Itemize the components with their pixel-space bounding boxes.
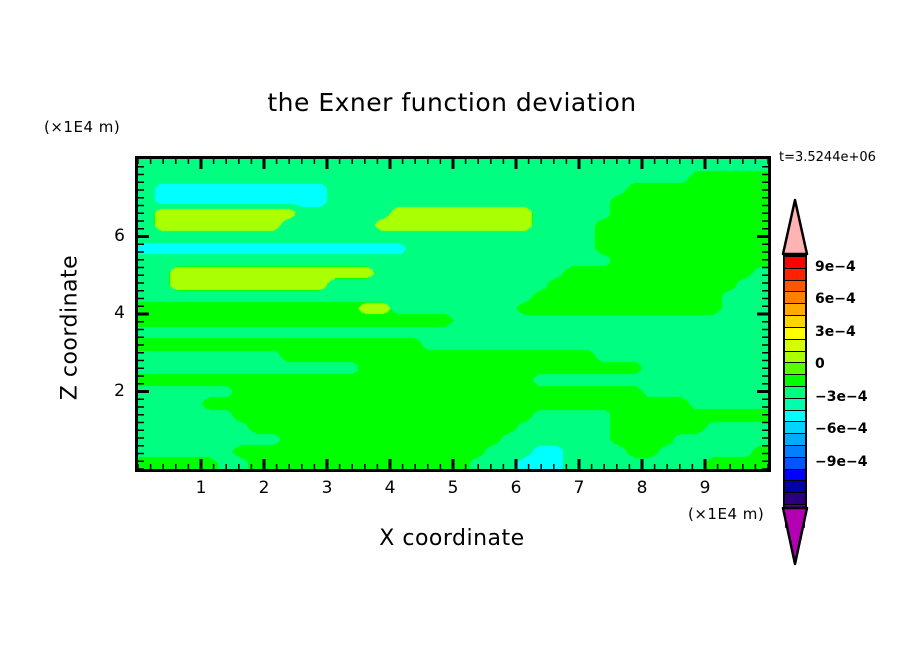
- colorbar-segment: [785, 422, 805, 434]
- colorbar-segment: [785, 363, 805, 375]
- colorbar-segment: [785, 434, 805, 446]
- colorbar-under-arrow-icon: [781, 506, 809, 566]
- colorbar-segments: [783, 255, 807, 508]
- colorbar-segment: [785, 281, 805, 293]
- figure-root: the Exner function deviation (×1E4 m) (×…: [0, 0, 904, 654]
- x-tick-label: 7: [564, 478, 594, 498]
- colorbar-tick-label: 3e−4: [815, 324, 856, 340]
- colorbar-segment: [785, 340, 805, 352]
- colorbar-segment: [785, 458, 805, 470]
- colorbar-segment: [785, 493, 805, 505]
- time-annotation: t=3.5244e+06: [779, 150, 876, 165]
- colorbar-segment: [785, 470, 805, 482]
- colorbar-segment: [785, 328, 805, 340]
- x-tick-label: 6: [501, 478, 531, 498]
- colorbar-tick-label: 9e−4: [815, 259, 856, 275]
- colorbar-segment: [785, 269, 805, 281]
- axis-tick-layer: [135, 156, 771, 476]
- x-tick-label: 1: [186, 478, 216, 498]
- colorbar-tick-label: −6e−4: [815, 421, 867, 437]
- colorbar-segment: [785, 316, 805, 328]
- x-axis-unit-label: (×1E4 m): [688, 505, 764, 523]
- colorbar-segment: [785, 481, 805, 493]
- x-tick-label: 5: [438, 478, 468, 498]
- x-tick-label: 4: [375, 478, 405, 498]
- colorbar: 9e−46e−43e−40−3e−4−6e−4−9e−4: [779, 198, 903, 518]
- colorbar-tick-label: −9e−4: [815, 454, 867, 470]
- x-tick-label: 3: [312, 478, 342, 498]
- y-axis-unit-label: (×1E4 m): [44, 118, 120, 136]
- colorbar-segment: [785, 387, 805, 399]
- colorbar-tick-label: 6e−4: [815, 291, 856, 307]
- x-tick-label: 8: [627, 478, 657, 498]
- colorbar-segment: [785, 375, 805, 387]
- y-axis-title: Z coordinate: [58, 218, 83, 438]
- colorbar-segment: [785, 446, 805, 458]
- colorbar-segment: [785, 352, 805, 364]
- page-title: the Exner function deviation: [0, 88, 904, 117]
- colorbar-segment: [785, 292, 805, 304]
- y-tick-label: 6: [99, 226, 125, 246]
- colorbar-segment: [785, 304, 805, 316]
- colorbar-over-arrow-icon: [781, 198, 809, 256]
- x-tick-label: 2: [249, 478, 279, 498]
- colorbar-tick-label: −3e−4: [815, 389, 867, 405]
- y-tick-label: 4: [99, 303, 125, 323]
- x-axis-title: X coordinate: [0, 526, 904, 551]
- colorbar-segment: [785, 411, 805, 423]
- colorbar-segment: [785, 399, 805, 411]
- y-tick-label: 2: [99, 381, 125, 401]
- colorbar-tick-label: 0: [815, 356, 825, 372]
- colorbar-segment: [785, 257, 805, 269]
- x-tick-label: 9: [690, 478, 720, 498]
